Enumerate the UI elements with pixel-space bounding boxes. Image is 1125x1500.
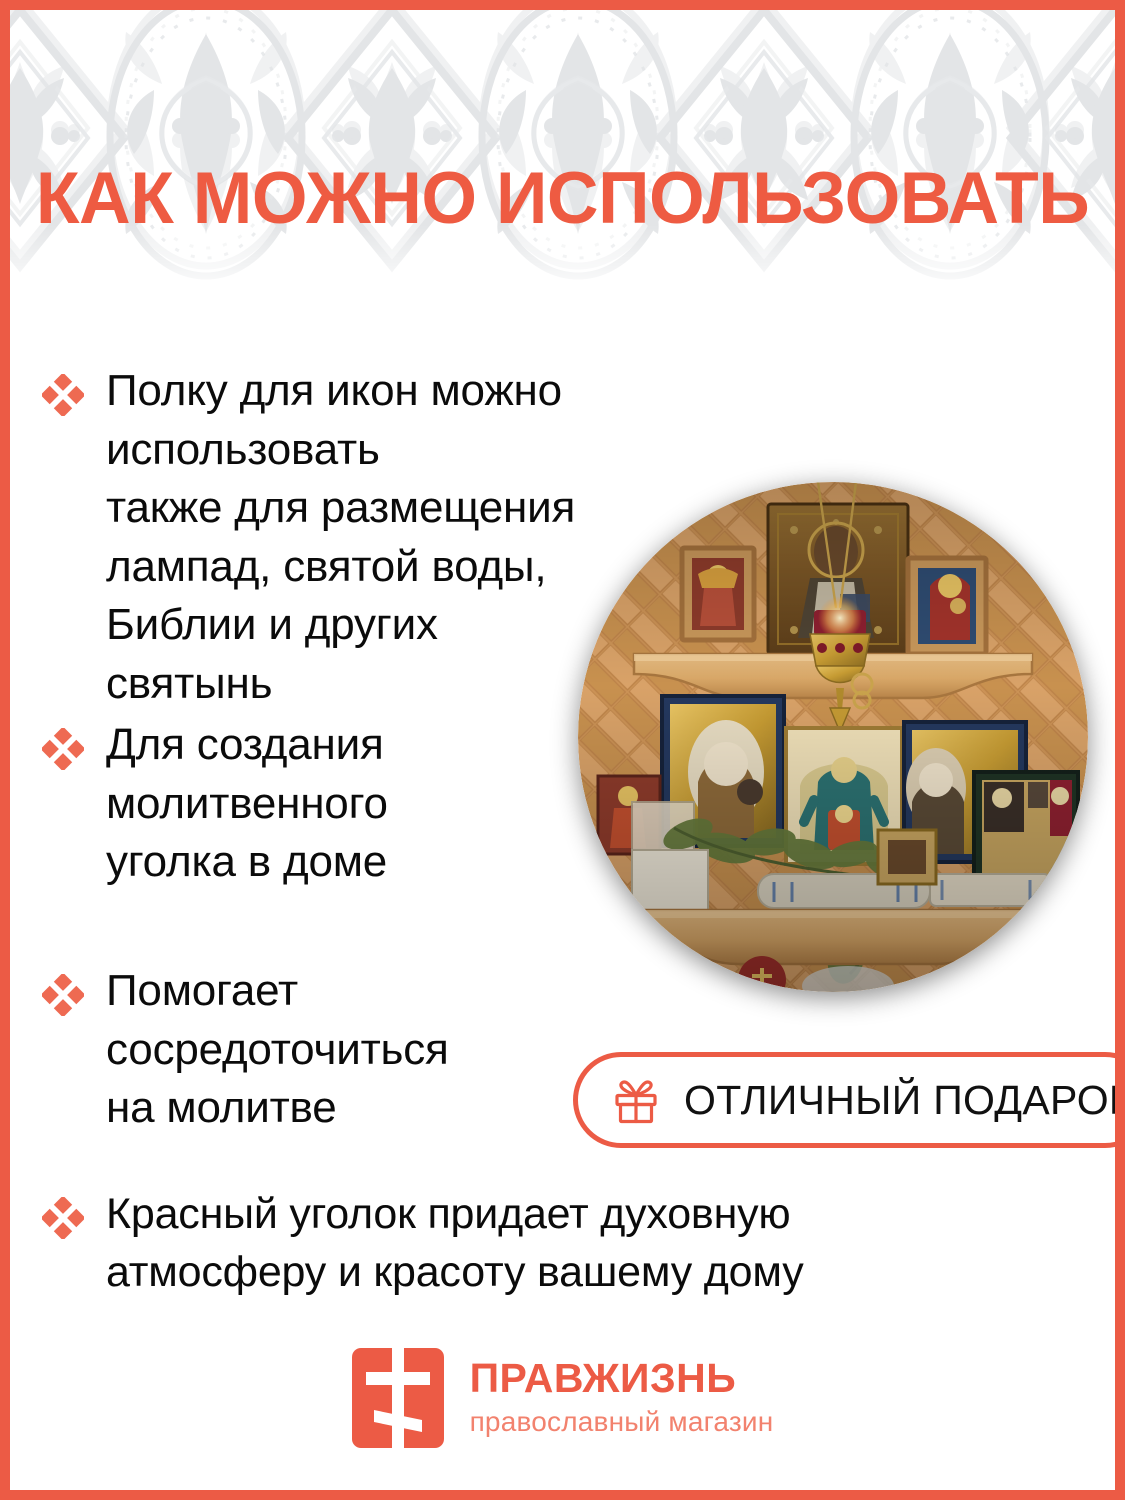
logo-wordmark: ПРАВЖИЗНЬ православный магазин	[470, 1357, 774, 1438]
orthodox-cross-logo-icon	[352, 1348, 444, 1448]
logo-tagline: православный магазин	[470, 1404, 774, 1439]
page-title: КАК МОЖНО ИСПОЛЬЗОВАТЬ	[21, 162, 1104, 235]
list-item-label: Полку для икон можно использовать также …	[106, 362, 682, 713]
header-ornament-background	[10, 10, 1115, 298]
list-item-label: Помогает сосредоточиться на молитве	[106, 962, 449, 1138]
gift-icon	[610, 1074, 662, 1126]
list-item: Помогает сосредоточиться на молитве	[42, 962, 542, 1138]
list-item-label: Красный уголок придает духовную атмосфер…	[106, 1185, 804, 1301]
brand-logo: ПРАВЖИЗНЬ православный магазин	[10, 1348, 1115, 1448]
four-diamonds-bullet-icon	[42, 728, 84, 770]
poster-root: КАК МОЖНО ИСПОЛЬЗОВАТЬ	[0, 0, 1125, 1500]
list-item-label: Для создания молитвенного уголка в доме	[106, 716, 388, 892]
list-item: Красный уголок придает духовную атмосфер…	[42, 1185, 1042, 1301]
gift-badge: ОТЛИЧНЫЙ ПОДАРОК	[573, 1052, 1125, 1148]
list-item: Полку для икон можно использовать также …	[42, 362, 682, 713]
four-diamonds-bullet-icon	[42, 1197, 84, 1239]
four-diamonds-bullet-icon	[42, 374, 84, 416]
gift-badge-label: ОТЛИЧНЫЙ ПОДАРОК	[684, 1077, 1125, 1124]
four-diamonds-bullet-icon	[42, 974, 84, 1016]
logo-name: ПРАВЖИЗНЬ	[470, 1357, 774, 1400]
list-item: Для создания молитвенного уголка в доме	[42, 716, 522, 892]
